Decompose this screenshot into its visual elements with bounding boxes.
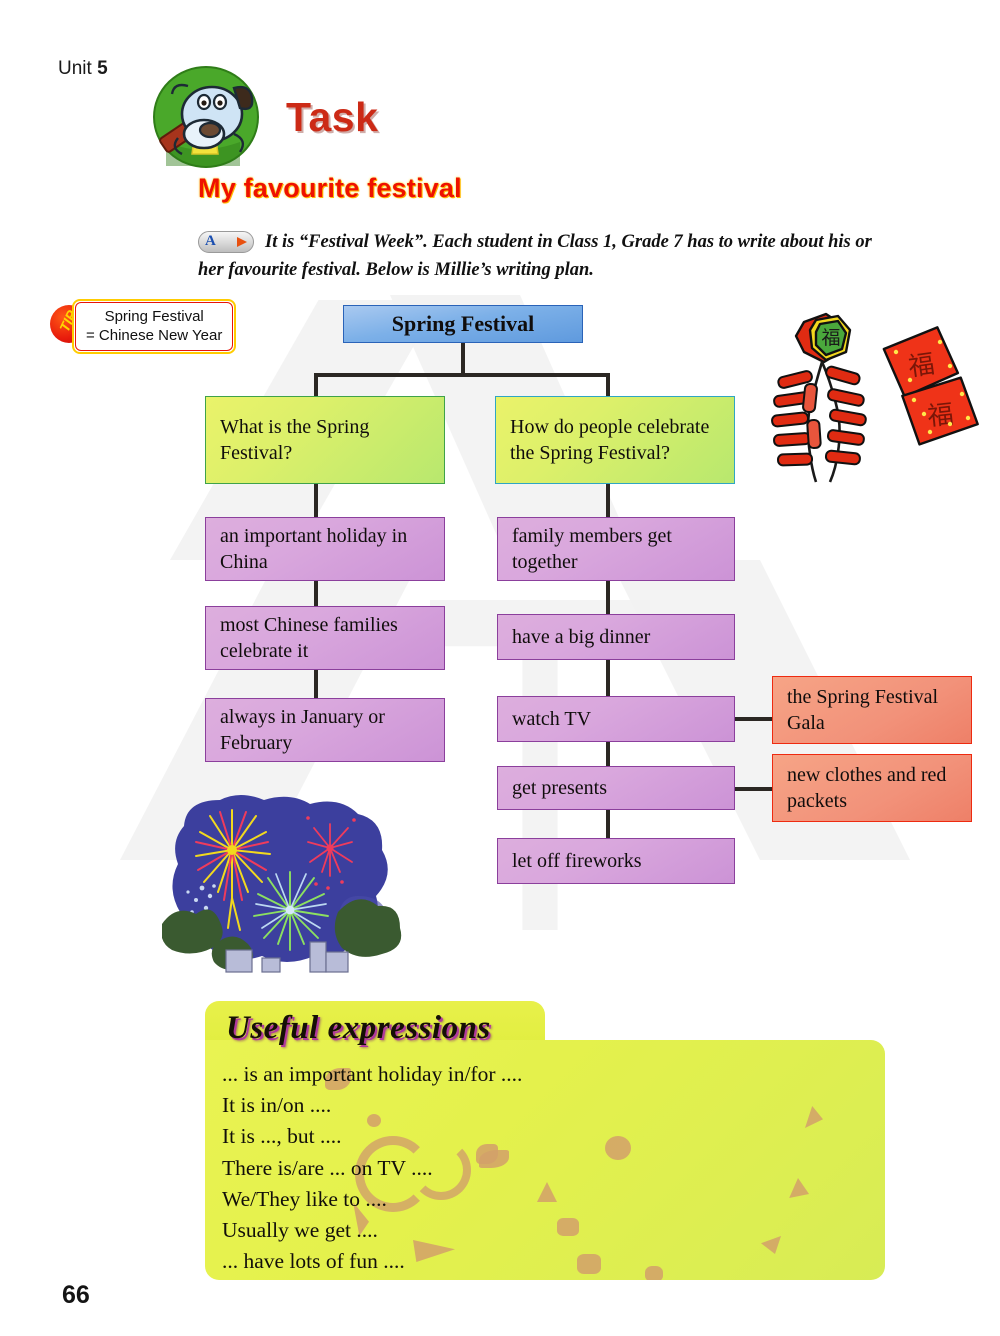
list-item: ... is an important holiday in/for .... (222, 1059, 522, 1090)
flow-node-question-2-label: How do people celebrate the Spring Festi… (496, 414, 734, 466)
flow-node-detail-2-label: new clothes and red packets (773, 762, 971, 814)
confetti-decoration (537, 1182, 557, 1202)
confetti-decoration (605, 1136, 631, 1160)
flow-node-answer-1-label: an important holiday in China (206, 523, 444, 575)
connector-b3-e1 (735, 717, 772, 721)
flow-node-answer-7: get presents (497, 766, 735, 810)
useful-expressions-list: ... is an important holiday in/for .... … (222, 1059, 522, 1277)
flow-node-detail-2: new clothes and red packets (772, 754, 972, 822)
play-triangle-icon[interactable] (237, 237, 247, 247)
activity-letter: A (205, 233, 216, 250)
flow-node-question-1-label: What is the Spring Festival? (206, 414, 444, 466)
flow-node-answer-8-label: let off fireworks (498, 848, 734, 874)
connector-root-split (314, 373, 610, 377)
confetti-decoration (761, 1236, 781, 1254)
activity-a-instructions: It is “Festival Week”. Each student in C… (265, 228, 991, 256)
flow-node-answer-5: have a big dinner (497, 614, 735, 660)
unit-prefix: Unit (58, 58, 92, 79)
flow-node-question-1: What is the Spring Festival? (205, 396, 445, 484)
confetti-decoration (577, 1254, 601, 1274)
flow-node-answer-6: watch TV (497, 696, 735, 742)
tip-box-inner: Spring Festival = Chinese New Year (75, 302, 233, 351)
connector-b4-b5 (606, 810, 610, 838)
flow-node-answer-7-label: get presents (498, 775, 734, 801)
connector-b2-b3 (606, 660, 610, 696)
connector-root-down (461, 343, 465, 375)
fireworks-night-sky-illustration (162, 792, 412, 974)
list-item: It is in/on .... (222, 1090, 522, 1121)
svg-text:福: 福 (821, 327, 840, 349)
task-title: Task (286, 94, 378, 141)
flow-node-answer-5-label: have a big dinner (498, 624, 734, 650)
flow-node-answer-6-label: watch TV (498, 706, 734, 732)
flow-node-answer-1: an important holiday in China (205, 517, 445, 581)
connector-to-q2 (606, 373, 610, 397)
flow-node-answer-4-label: family members get together (498, 523, 734, 575)
flow-node-answer-2: most Chinese families celebrate it (205, 606, 445, 670)
instructions-line-1: It is “Festival Week”. Each student in C… (265, 232, 872, 252)
connector-to-q1 (314, 373, 318, 397)
connector-q1-a1 (314, 484, 318, 517)
firecrackers-and-red-packets-illustration: 福 福 福 (764, 296, 996, 488)
page-title: My favourite festival (198, 173, 462, 204)
confetti-decoration (645, 1266, 663, 1280)
confetti-decoration (805, 1106, 823, 1128)
list-item: ... have lots of fun .... (222, 1246, 522, 1277)
unit-label: Unit 5 (58, 58, 108, 80)
list-item: Usually we get .... (222, 1215, 522, 1246)
list-item: We/They like to .... (222, 1184, 522, 1215)
flow-node-answer-3-label: always in January or February (206, 704, 444, 756)
activity-a-badge[interactable]: A (198, 231, 254, 253)
connector-a1-a2 (314, 581, 318, 606)
flow-node-detail-1-label: the Spring Festival Gala (773, 684, 971, 736)
tip-line-1: Spring Festival (86, 307, 222, 326)
flow-node-answer-3: always in January or February (205, 698, 445, 762)
tip-line-2: = Chinese New Year (86, 326, 222, 345)
flow-node-question-2: How do people celebrate the Spring Festi… (495, 396, 735, 484)
confetti-decoration (787, 1178, 809, 1198)
connector-a2-a3 (314, 670, 318, 698)
connector-q2-b1 (606, 484, 610, 517)
flow-node-answer-2-label: most Chinese families celebrate it (206, 612, 444, 664)
unit-number: 5 (97, 58, 108, 79)
page-number: 66 (62, 1281, 90, 1310)
list-item: It is ..., but .... (222, 1121, 522, 1152)
confetti-decoration (557, 1218, 579, 1236)
tip-box: Spring Festival = Chinese New Year (72, 299, 236, 354)
flow-node-root: Spring Festival (343, 305, 583, 343)
flow-node-answer-8: let off fireworks (497, 838, 735, 884)
flow-node-answer-4: family members get together (497, 517, 735, 581)
instructions-line-2: her favourite festival. Below is Millie’… (198, 256, 988, 284)
connector-b1-b2 (606, 581, 610, 614)
useful-expressions-title: Useful expressions (226, 1010, 491, 1047)
connector-b4-e2 (735, 787, 772, 791)
svg-text:福: 福 (907, 349, 937, 382)
list-item: There is/are ... on TV .... (222, 1153, 522, 1184)
flow-node-detail-1: the Spring Festival Gala (772, 676, 972, 744)
flow-node-root-label: Spring Festival (344, 311, 582, 337)
dog-mascot-icon (148, 62, 268, 172)
svg-text:福: 福 (926, 400, 955, 433)
